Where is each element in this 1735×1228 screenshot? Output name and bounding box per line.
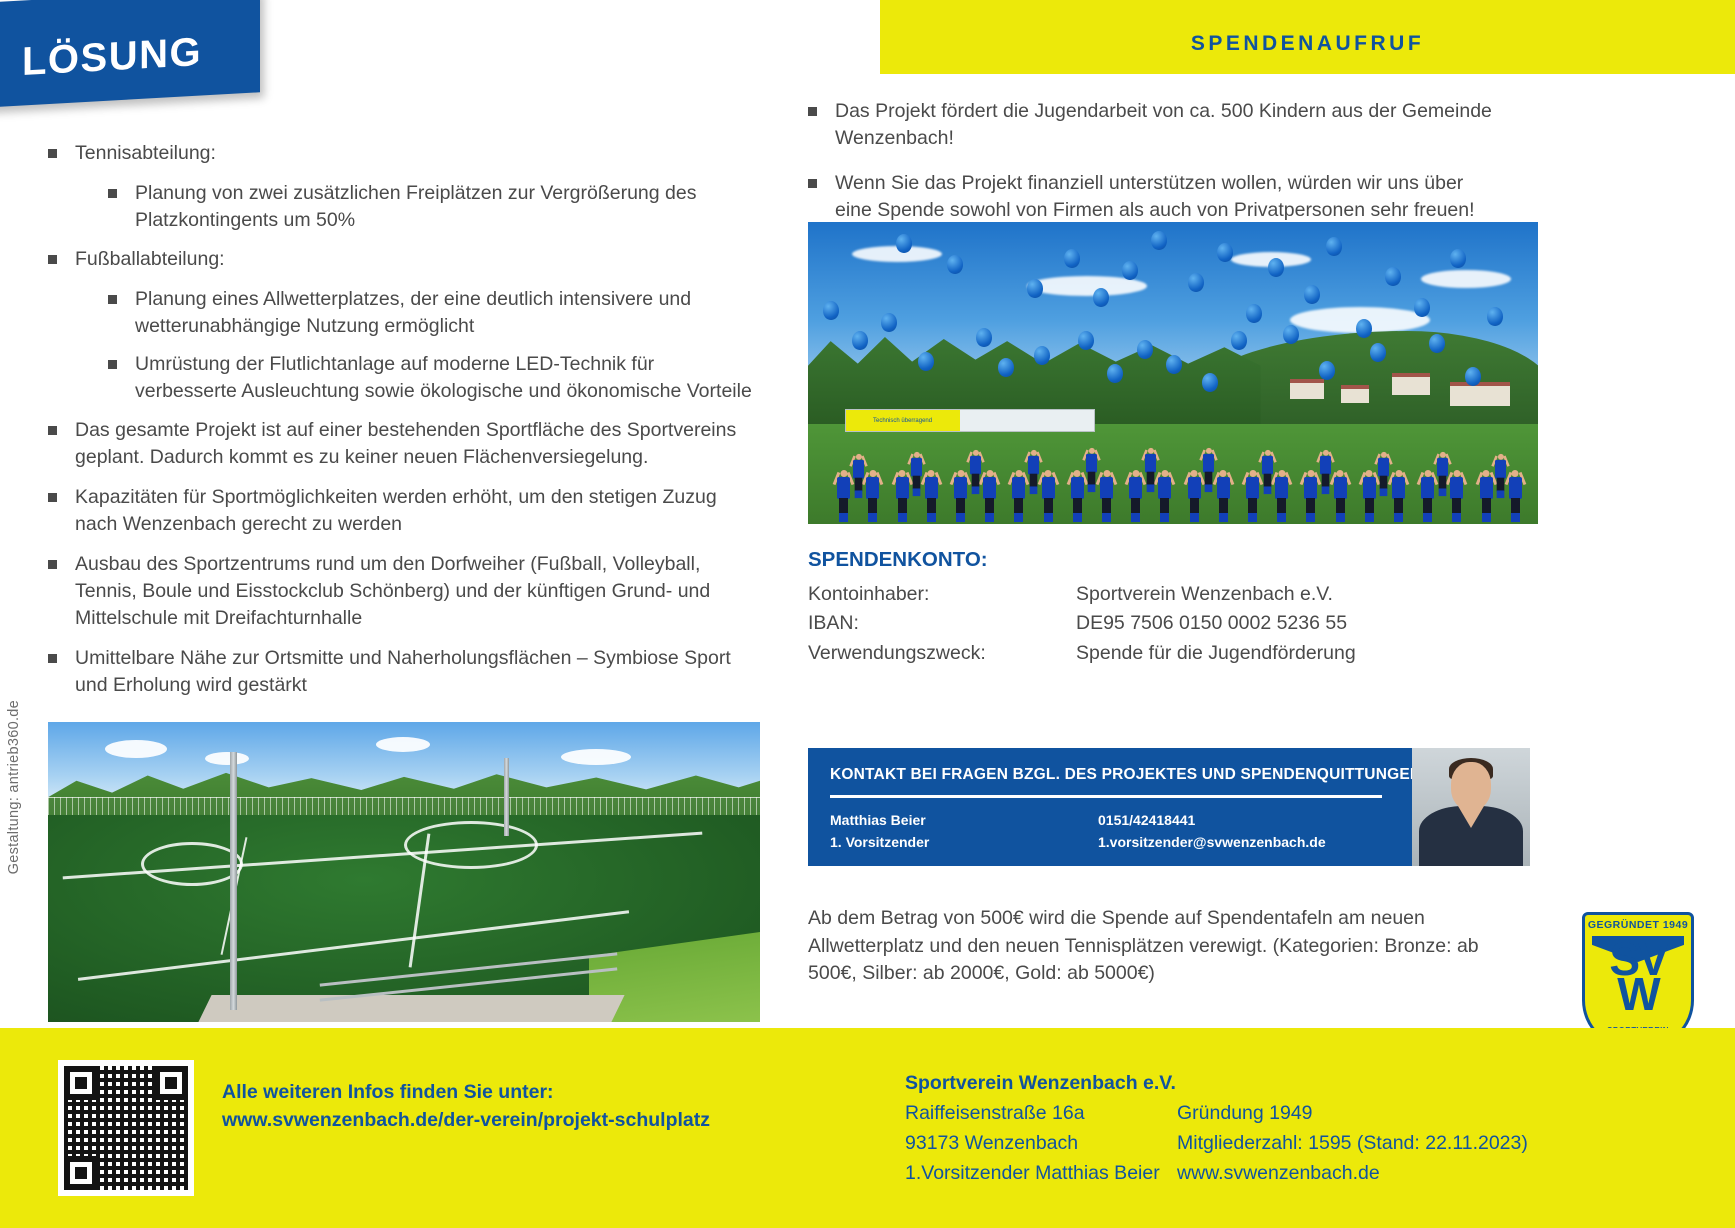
footer-info-heading: Alle weiteren Infos finden Sie unter:: [222, 1078, 710, 1106]
footer-website[interactable]: www.svwenzenbach.de: [1177, 1158, 1528, 1188]
photo-child: [1188, 470, 1201, 522]
photo-child: [1378, 452, 1389, 496]
photo-child: [1145, 448, 1156, 492]
balloon-icon: [1385, 267, 1401, 286]
balloon-icon: [1188, 273, 1204, 292]
photo-child: [1262, 450, 1273, 494]
design-credit: Gestaltung: antrieb360.de: [6, 700, 32, 874]
list-item: Wenn Sie das Projekt finanziell unterstü…: [808, 170, 1498, 224]
spendenaufruf-title: SPENDENAUFRUF: [880, 32, 1735, 56]
photo-child: [1246, 470, 1259, 522]
photo-child: [1334, 470, 1347, 522]
photo-child: [1421, 470, 1434, 522]
balloon-icon: [1283, 325, 1299, 344]
right-bullet-list: Das Projekt fördert die Jugendarbeit von…: [808, 98, 1498, 242]
list-item-label: Planung eines Allwetterplatzes, der eine…: [135, 286, 755, 340]
donation-tiers-text: Ab dem Betrag von 500€ wird die Spende a…: [808, 905, 1528, 988]
contact-box-title: KONTAKT BEI FRAGEN BZGL. DES PROJEKTES U…: [830, 766, 1421, 784]
list-item-label: Umittelbare Nähe zur Ortsmitte und Naher…: [75, 645, 755, 699]
qr-finder-icon: [154, 1066, 188, 1100]
square-bullet-icon: [808, 179, 817, 188]
photo-cloud: [376, 737, 430, 752]
square-bullet-icon: [808, 107, 817, 116]
footer-details-column: Gründung 1949 Mitgliederzahl: 1595 (Stan…: [1177, 1098, 1528, 1189]
divider: [830, 795, 1382, 798]
row-label: IBAN:: [808, 609, 1076, 638]
balloon-icon: [1246, 304, 1262, 323]
photo-child: [1437, 452, 1448, 496]
balloon-icon: [1487, 307, 1503, 326]
list-item: Kapazitäten für Sportmöglichkeiten werde…: [48, 484, 770, 538]
balloon-icon: [852, 331, 868, 350]
photo-cloud: [205, 752, 249, 765]
footer-address-line2: 93173 Wenzenbach: [905, 1128, 1177, 1158]
list-item-label: Wenn Sie das Projekt finanziell unterstü…: [835, 170, 1495, 224]
footer-address-line1: Raiffeisenstraße 16a: [905, 1098, 1177, 1128]
list-item: Planung eines Allwetterplatzes, der eine…: [108, 286, 770, 340]
balloon-icon: [1064, 249, 1080, 268]
photo-child: [1028, 450, 1039, 494]
square-bullet-icon: [48, 560, 57, 569]
square-bullet-icon: [48, 149, 57, 158]
logo-founded-text: GEGRÜNDET 1949: [1582, 919, 1694, 931]
balloon-icon: [998, 358, 1014, 377]
photo-house: [1450, 382, 1510, 406]
row-value: Sportverein Wenzenbach e.V.: [1076, 580, 1333, 609]
photo-child: [1480, 470, 1493, 522]
row-label: Verwendungszweck:: [808, 639, 1076, 668]
row-label: Kontoinhaber:: [808, 580, 1076, 609]
table-row: Kontoinhaber: Sportverein Wenzenbach e.V…: [808, 580, 1508, 609]
photo-board-label: Technisch überragend: [846, 410, 960, 431]
balloon-icon: [1217, 243, 1233, 262]
balloon-icon: [1414, 298, 1430, 317]
balloon-icon: [823, 301, 839, 320]
photo-child: [1100, 470, 1113, 522]
sportsfield-photo: [48, 722, 760, 1022]
photo-child: [866, 470, 879, 522]
photo-child: [925, 470, 938, 522]
photo-walkway: [198, 995, 624, 1022]
photo-cloud: [105, 740, 167, 758]
balloon-icon: [1093, 288, 1109, 307]
contact-details: 0151/42418441 1.vorsitzender@svwenzenbac…: [1098, 810, 1326, 853]
photo-child: [1071, 470, 1084, 522]
logo-letters-line2: W: [1582, 977, 1694, 1012]
table-row: Verwendungszweck: Spende für die Jugendf…: [808, 639, 1508, 668]
photo-child: [1392, 470, 1405, 522]
square-bullet-icon: [48, 255, 57, 264]
photo-center-circle: [404, 821, 538, 869]
balloon-icon: [1268, 258, 1284, 277]
balloon-icon: [1465, 367, 1481, 386]
list-item: Das Projekt fördert die Jugendarbeit von…: [808, 98, 1498, 152]
balloon-icon: [1107, 364, 1123, 383]
footer-founded: Gründung 1949: [1177, 1098, 1528, 1128]
square-bullet-icon: [108, 295, 117, 304]
photo-child: [1217, 470, 1230, 522]
photo-child: [1275, 470, 1288, 522]
balloon-icon: [1151, 231, 1167, 250]
photo-child: [1320, 450, 1331, 494]
balloon-icon: [1370, 343, 1386, 362]
list-item: Planung von zwei zusätzlichen Freiplätze…: [108, 180, 770, 234]
photo-floodlight-pole: [230, 752, 237, 1010]
balloon-icon: [1166, 355, 1182, 374]
balloon-icon: [881, 313, 897, 332]
photo-house: [1290, 379, 1324, 399]
photo-child: [954, 470, 967, 522]
qr-code[interactable]: [58, 1060, 194, 1196]
contact-portrait-photo: [1412, 748, 1530, 866]
balloon-icon: [1202, 373, 1218, 392]
row-value: DE95 7506 0150 0002 5236 55: [1076, 609, 1347, 638]
footer-members: Mitgliederzahl: 1595 (Stand: 22.11.2023): [1177, 1128, 1528, 1158]
square-bullet-icon: [48, 426, 57, 435]
photo-child: [1509, 470, 1522, 522]
list-item-label: Tennisabteilung:: [75, 140, 216, 167]
photo-child: [837, 470, 850, 522]
donation-account-block: SPENDENKONTO: Kontoinhaber: Sportverein …: [808, 548, 1508, 668]
footer-bar: Alle weiteren Infos finden Sie unter: ww…: [0, 1028, 1735, 1228]
balloon-icon: [1078, 331, 1094, 350]
balloon-icon: [1319, 361, 1335, 380]
photo-child: [1450, 470, 1463, 522]
photo-child: [911, 452, 922, 496]
square-bullet-icon: [108, 189, 117, 198]
balloon-icon: [1137, 340, 1153, 359]
contact-name: Matthias Beier: [830, 810, 929, 832]
photo-penalty-arc: [141, 842, 243, 886]
list-item: Ausbau des Sportzentrums rund um den Dor…: [48, 551, 770, 632]
flyer-page: LÖSUNG Gestaltung: antrieb360.de Tennisa…: [0, 0, 1735, 1228]
photo-child: [1129, 470, 1142, 522]
list-item: Das gesamte Projekt ist auf einer besteh…: [48, 417, 770, 471]
portrait-head: [1451, 762, 1491, 810]
row-value: Spende für die Jugendförderung: [1076, 639, 1356, 668]
left-bullet-list: Tennisabteilung: Planung von zwei zusätz…: [48, 140, 770, 711]
list-item: Umrüstung der Flutlichtanlage auf modern…: [108, 351, 770, 405]
contact-phone[interactable]: 0151/42418441: [1098, 810, 1326, 832]
balloon-icon: [1429, 334, 1445, 353]
footer-club-name: Sportverein Wenzenbach e.V.: [905, 1072, 1528, 1095]
list-item: Tennisabteilung:: [48, 140, 770, 167]
photo-house: [1392, 373, 1430, 395]
photo-child: [1203, 448, 1214, 492]
photo-child: [1042, 470, 1055, 522]
list-item-label: Umrüstung der Flutlichtanlage auf modern…: [135, 351, 755, 405]
list-item: Fußballabteilung:: [48, 246, 770, 273]
footer-club-block: Sportverein Wenzenbach e.V. Raiffeisenst…: [905, 1072, 1528, 1189]
qr-finder-icon: [64, 1156, 98, 1190]
photo-child: [1304, 470, 1317, 522]
qr-finder-icon: [64, 1066, 98, 1100]
list-item-label: Fußballabteilung:: [75, 246, 225, 273]
contact-person: Matthias Beier 1. Vorsitzender: [830, 810, 929, 853]
photo-child: [896, 470, 909, 522]
square-bullet-icon: [48, 493, 57, 502]
photo-cloud: [561, 749, 631, 765]
photo-child: [1086, 448, 1097, 492]
contact-email[interactable]: 1.vorsitzender@svwenzenbach.de: [1098, 832, 1326, 854]
footer-columns: Raiffeisenstraße 16a 93173 Wenzenbach 1.…: [905, 1098, 1528, 1189]
photo-child: [853, 454, 864, 498]
contact-box: KONTAKT BEI FRAGEN BZGL. DES PROJEKTES U…: [808, 748, 1530, 866]
photo-child: [1012, 470, 1025, 522]
photo-floodlight-pole: [504, 758, 509, 836]
square-bullet-icon: [108, 360, 117, 369]
list-item-label: Ausbau des Sportzentrums rund um den Dor…: [75, 551, 755, 632]
square-bullet-icon: [48, 654, 57, 663]
list-item-label: Kapazitäten für Sportmöglichkeiten werde…: [75, 484, 755, 538]
donation-account-title: SPENDENKONTO:: [808, 548, 1508, 572]
photo-child: [1495, 454, 1506, 498]
list-item-label: Planung von zwei zusätzlichen Freiplätze…: [135, 180, 755, 234]
balloon-icon: [947, 255, 963, 274]
balloon-icon: [918, 352, 934, 371]
logo-letters: SV W: [1582, 942, 1694, 1012]
balloon-icon: [1034, 346, 1050, 365]
loesung-banner-wrapper: LÖSUNG: [0, 4, 280, 124]
photo-child: [970, 450, 981, 494]
photo-advertising-board: Technisch überragend: [845, 409, 1095, 432]
balloon-icon: [1231, 331, 1247, 350]
list-item-label: Das Projekt fördert die Jugendarbeit von…: [835, 98, 1495, 152]
list-item: Umittelbare Nähe zur Ortsmitte und Naher…: [48, 645, 770, 699]
contact-role: 1. Vorsitzender: [830, 832, 929, 854]
photo-house: [1341, 385, 1369, 403]
footer-info-link-block: Alle weiteren Infos finden Sie unter: ww…: [222, 1078, 710, 1135]
photo-child: [1363, 470, 1376, 522]
footer-info-url[interactable]: www.svwenzenbach.de/der-verein/projekt-s…: [222, 1106, 710, 1134]
balloon-icon: [1122, 261, 1138, 280]
list-item-label: Das gesamte Projekt ist auf einer besteh…: [75, 417, 755, 471]
qr-code-pattern: [64, 1066, 188, 1190]
footer-address-line3: 1.Vorsitzender Matthias Beier: [905, 1158, 1177, 1188]
balloon-icon: [896, 234, 912, 253]
table-row: IBAN: DE95 7506 0150 0002 5236 55: [808, 609, 1508, 638]
footer-address-column: Raiffeisenstraße 16a 93173 Wenzenbach 1.…: [905, 1098, 1177, 1189]
photo-child: [983, 470, 996, 522]
balloon-icon: [1356, 319, 1372, 338]
balloon-icon: [976, 328, 992, 347]
balloons-photo: Technisch überragend: [808, 222, 1538, 524]
photo-child: [1158, 470, 1171, 522]
